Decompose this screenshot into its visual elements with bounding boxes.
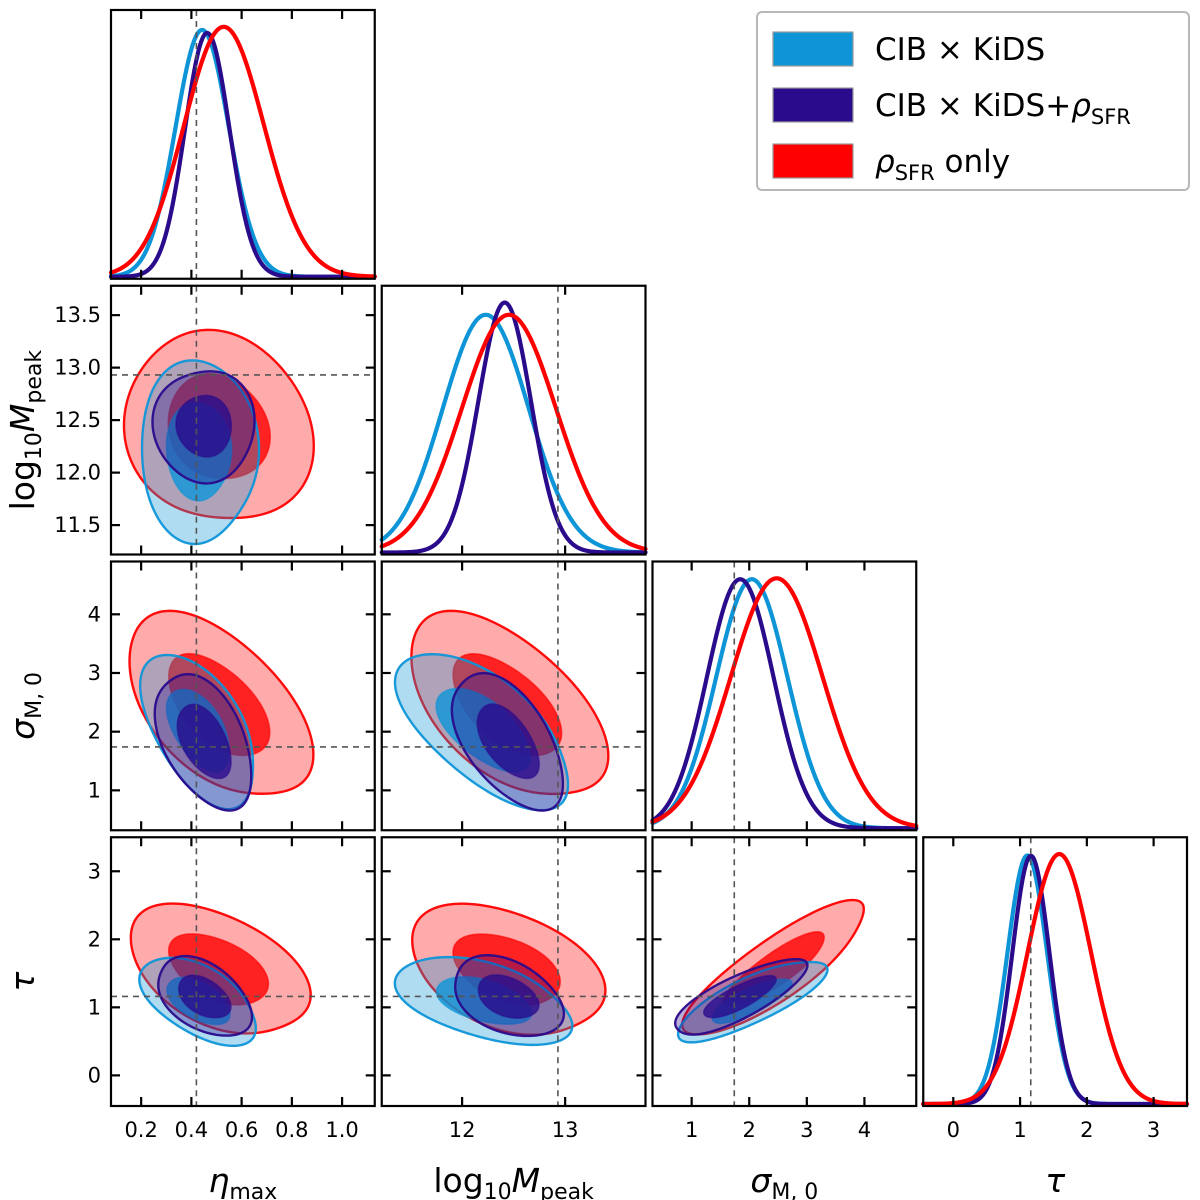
corner-plot-figure: 11.512.012.513.013.512340.20.40.60.81.00… <box>0 0 1200 1200</box>
x-tick-label: 0.2 <box>124 1118 157 1142</box>
axis-title-eta_max: ηmax <box>208 1161 277 1200</box>
axis-title-text: log10Mpeak <box>3 350 47 511</box>
panel-1d-logM_peak <box>382 286 646 555</box>
marginal-curve-logM_peak-2 <box>382 315 646 549</box>
marginal-curve-tau-2 <box>923 854 1187 1104</box>
panel-2d-logM_peak-vs-tau <box>382 837 646 1106</box>
axis-title-sigma_M0: σM, 0 <box>750 1161 818 1200</box>
y-tick-label: 0 <box>88 1063 101 1087</box>
x-tick-label: 13 <box>552 1118 579 1142</box>
x-tick-label: 4 <box>858 1118 871 1142</box>
y-tick-label: 3 <box>88 661 101 685</box>
panel-2d-eta_max-vs-tau <box>111 837 375 1106</box>
y-tick-label: 1 <box>88 995 101 1019</box>
x-tick-label: 1.0 <box>325 1118 358 1142</box>
legend-label-cib_kids: CIB × KiDS <box>875 32 1045 68</box>
panel-2d-logM_peak-vs-sigma_M0 <box>382 562 646 831</box>
x-tick-label: 0.4 <box>175 1118 208 1142</box>
x-tick-label: 12 <box>449 1118 476 1142</box>
y-tick-label: 12.0 <box>54 461 101 485</box>
axis-title-text: σM, 0 <box>750 1161 818 1200</box>
x-tick-label: 1 <box>685 1118 698 1142</box>
axis-title-tau: τ <box>3 971 42 992</box>
panel-1d-sigma_M0 <box>653 562 917 831</box>
x-tick-label: 0 <box>947 1118 960 1142</box>
marginal-curve-sigma_M0-1 <box>653 579 917 828</box>
panel-2d-sigma_M0-vs-tau <box>653 837 917 1106</box>
axis-title-text: τ <box>3 971 42 992</box>
legend: CIB × KiDSCIB × KiDS+ρSFRρSFR only <box>757 12 1189 190</box>
marginal-curve-logM_peak-1 <box>382 303 646 553</box>
axis-title-text: τ <box>1045 1161 1066 1200</box>
y-tick-label: 2 <box>88 927 101 951</box>
legend-swatch-cib_kids_rho <box>773 88 853 122</box>
marginal-curve-eta_max-0 <box>111 30 375 277</box>
axes-frame-r2-c2 <box>653 562 917 831</box>
legend-swatch-cib_kids <box>773 32 853 66</box>
x-tick-label: 2 <box>743 1118 756 1142</box>
marginal-curve-sigma_M0-0 <box>653 579 917 828</box>
panel-1d-tau <box>923 837 1187 1106</box>
y-tick-label: 1 <box>88 778 101 802</box>
axis-title-tau: τ <box>1045 1161 1066 1200</box>
y-tick-label: 11.5 <box>54 513 101 537</box>
marginal-curve-logM_peak-0 <box>382 315 646 552</box>
marginal-curve-tau-0 <box>923 856 1187 1105</box>
x-tick-label: 1 <box>1013 1118 1026 1142</box>
y-tick-label: 2 <box>88 720 101 744</box>
x-tick-label: 0.6 <box>225 1118 258 1142</box>
panel-2d-eta_max-vs-sigma_M0 <box>111 562 375 831</box>
legend-swatch-rho_only <box>773 144 853 178</box>
y-tick-label: 13.5 <box>54 303 101 327</box>
axis-title-text: log10Mpeak <box>433 1161 594 1200</box>
axis-title-logM_peak: log10Mpeak <box>3 350 47 511</box>
panel-border <box>923 837 1187 1106</box>
axis-title-sigma_M0: σM, 0 <box>3 672 47 740</box>
panel-border <box>653 562 917 831</box>
y-tick-label: 4 <box>88 602 101 626</box>
y-tick-label: 3 <box>88 859 101 883</box>
x-tick-label: 0.8 <box>275 1118 308 1142</box>
x-tick-label: 2 <box>1080 1118 1093 1142</box>
x-tick-label: 3 <box>1147 1118 1160 1142</box>
marginal-curve-sigma_M0-2 <box>653 578 917 826</box>
axis-title-text: σM, 0 <box>3 672 47 740</box>
marginal-curve-tau-1 <box>923 856 1187 1104</box>
axis-title-text: ηmax <box>208 1161 277 1200</box>
panel-2d-eta_max-vs-logM_peak <box>111 286 375 555</box>
corner-plot-svg: 11.512.012.513.013.512340.20.40.60.81.00… <box>0 0 1200 1200</box>
axis-title-logM_peak: log10Mpeak <box>433 1161 594 1200</box>
y-tick-label: 13.0 <box>54 356 101 380</box>
x-tick-label: 3 <box>800 1118 813 1142</box>
y-tick-label: 12.5 <box>54 408 101 432</box>
panel-1d-eta_max <box>111 10 375 279</box>
